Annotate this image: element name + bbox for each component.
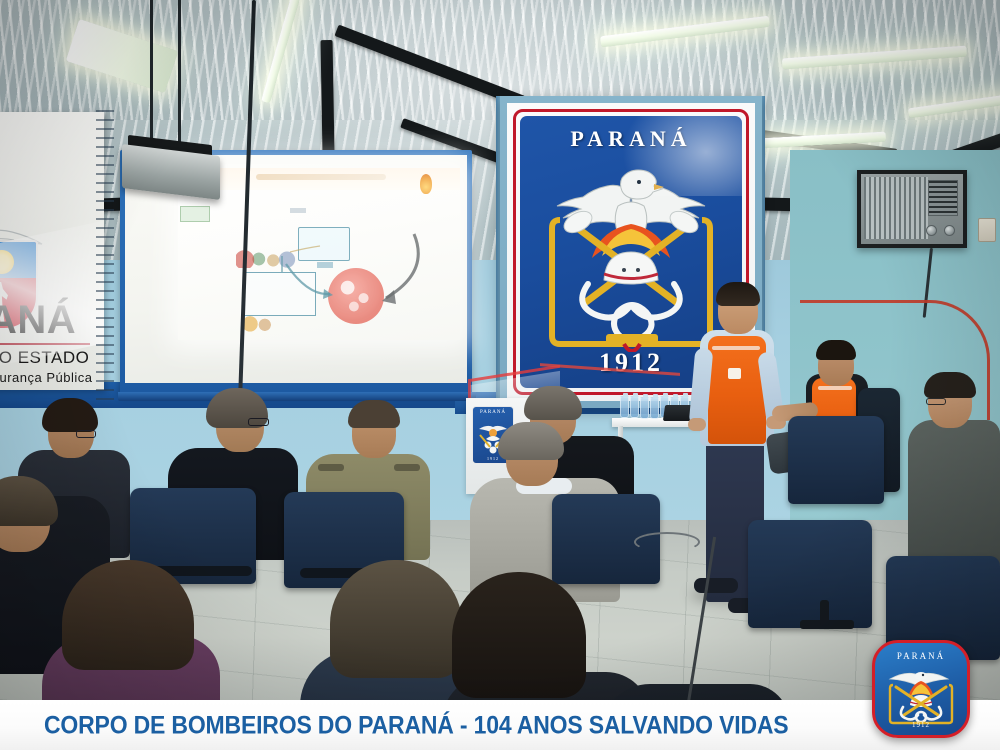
audience-right-glasses-icon [926,398,946,405]
audience-back-left-glasses-icon [76,430,96,438]
crest-glare [622,116,742,196]
projector-mount-rod-1 [150,0,153,144]
air-conditioner-face [861,174,963,244]
photo-scene: ★ ANÁ DO ESTADO egurança Pública [0,0,1000,750]
air-conditioner-side-vent [928,180,958,216]
audience-sweater-hair [498,422,564,460]
audience-officer-hair [348,400,400,428]
podium-crest-title: PARANÁ [473,410,513,415]
air-conditioner[interactable] [857,170,967,248]
officer-epaulette-left [318,464,344,471]
chair-leg-right-front-post [820,600,829,626]
wall-socket [978,218,996,242]
air-conditioner-grille [864,177,928,239]
air-conditioner-knob-1[interactable] [926,225,937,236]
poster-line-3: egurança Pública [0,370,92,385]
seated-firefighter-vest-stripe [818,386,852,390]
corpo-de-bombeiros-parana-badge[interactable]: PARANÁ 1912 [872,640,970,738]
presenter-hair [716,282,760,306]
slide-arrows [178,168,460,340]
water-bottle[interactable] [640,397,649,419]
presenter-vest-stripe-shoulder [712,346,760,350]
banner-title: CORPO DE BOMBEIROS DO PARANÁ - 104 ANOS … [44,712,788,741]
audience-suit-hair [524,386,582,420]
whiteboard-tray [118,392,476,401]
badge-year: 1912 [875,721,967,729]
audience-back-mid-glasses-icon [248,418,269,426]
left-wall-poster: ★ ANÁ DO ESTADO egurança Pública [0,112,104,390]
seated-firefighter-hair [816,340,856,360]
projection-screen [178,168,460,340]
presenter-vest [708,336,766,444]
chair-right-front[interactable] [748,520,872,628]
water-bottle[interactable] [650,397,659,419]
chair-right-back[interactable] [788,416,884,504]
presenter-hand-left [688,418,706,431]
badge-title: PARANÁ [875,651,967,661]
projector-mount-rod-2 [178,0,181,142]
audience-front-center-hair [330,560,462,678]
audience-right-body [908,420,1000,570]
officer-epaulette-right [394,464,420,471]
presenter-shoe-left [694,578,738,593]
audience-front-right-hair [452,572,586,698]
water-bottle[interactable] [630,396,639,418]
audience-right-hair [924,372,976,398]
wall-cable-bundle-left [96,110,114,400]
bottom-banner: CORPO DE BOMBEIROS DO PARANÁ - 104 ANOS … [0,700,1000,750]
presenter-vest-badge [728,368,741,379]
water-bottle[interactable] [620,396,629,418]
air-conditioner-knob-2[interactable] [944,225,955,236]
badge-emblem [884,665,958,725]
floor-cable-loop [634,532,700,552]
